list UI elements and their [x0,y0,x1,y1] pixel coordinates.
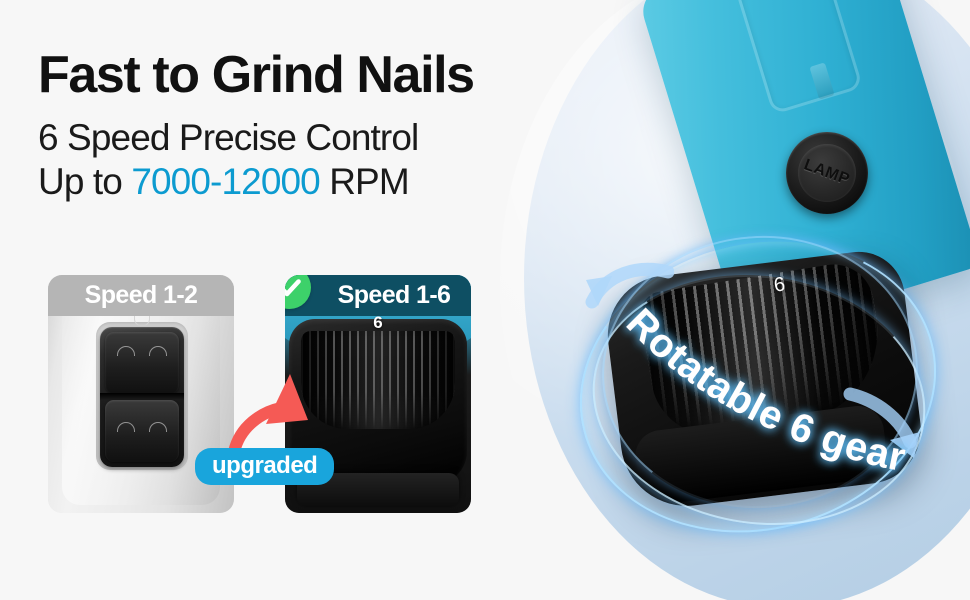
rocker-switch [100,327,184,467]
rotatable-caption: Rotatable 6 gear [606,276,936,501]
lamp-button-face: LAMP [798,144,856,202]
dial-shading [301,331,455,429]
rocker-arc-left-icon [117,346,135,356]
rocker-divider [100,393,184,400]
svg-text:Rotatable 6 gear: Rotatable 6 gear [618,300,909,480]
panel-header-speed-1-2: Speed 1-2 [48,275,234,316]
rpm-value: 7000-12000 [131,161,320,202]
rocker-arc-left-icon [117,422,135,432]
dial-drum [301,331,455,429]
subtitle-suffix: RPM [320,161,409,202]
rocker-arc-right-icon [149,346,167,356]
lamp-button-label: LAMP [802,156,853,189]
subtitle-prefix: Up to [38,161,131,202]
rocker-arc-right-icon [149,422,167,432]
rotatable-dial-head: 6 [596,250,926,520]
headline-block: Fast to Grind Nails 6 Speed Precise Cont… [38,48,618,203]
page-title: Fast to Grind Nails [38,48,618,102]
upgraded-badge: upgraded [195,448,334,485]
rocker-button-up [105,332,179,394]
panel-header-speed-1-6: Speed 1-6 [285,275,471,316]
panel-dial-number: 6 [285,313,471,333]
rocker-button-down [105,400,179,462]
infographic-canvas: Fast to Grind Nails 6 Speed Precise Cont… [0,0,970,600]
subtitle-line-2: Up to 7000-12000 RPM [38,160,618,204]
subtitle-line-1: 6 Speed Precise Control [38,116,618,160]
lamp-button[interactable]: LAMP [786,132,868,214]
